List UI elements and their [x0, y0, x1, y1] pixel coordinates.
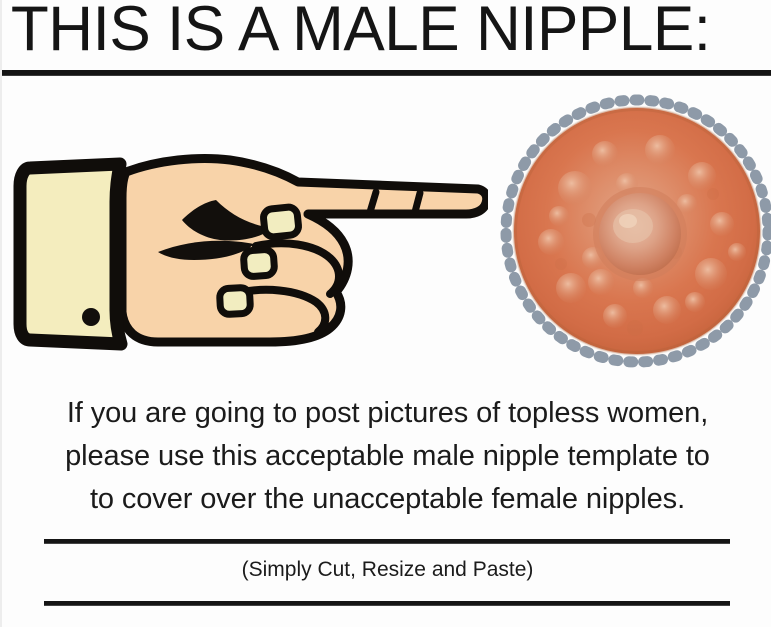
meme-poster: THIS IS A MALE NIPPLE: [0, 0, 771, 627]
header-divider [2, 70, 771, 76]
cuff-button-icon [82, 308, 100, 326]
pointing-hand-right-icon [8, 142, 488, 362]
body-line-2: please use this acceptable male nipple t… [2, 435, 771, 478]
body-line-1: If you are going to post pictures of top… [2, 392, 771, 435]
sleeve-cuff-icon [20, 164, 121, 344]
body-line-3: to cover over the unacceptable female ni… [2, 478, 771, 521]
footer-divider-top [44, 539, 730, 544]
nail-ring-icon [219, 287, 250, 315]
nail-index-icon [263, 206, 300, 237]
footer-divider-bottom [44, 601, 730, 606]
pointing-hand-svg [8, 142, 488, 362]
papilla-specular [619, 214, 637, 228]
nipple-cutout-svg [497, 92, 771, 372]
footer-note: (Simply Cut, Resize and Paste) [2, 558, 771, 582]
male-nipple-cutout-icon [497, 92, 771, 372]
body-copy: If you are going to post pictures of top… [2, 392, 771, 521]
nail-middle-icon [243, 249, 275, 277]
page-title: THIS IS A MALE NIPPLE: [2, 0, 761, 62]
